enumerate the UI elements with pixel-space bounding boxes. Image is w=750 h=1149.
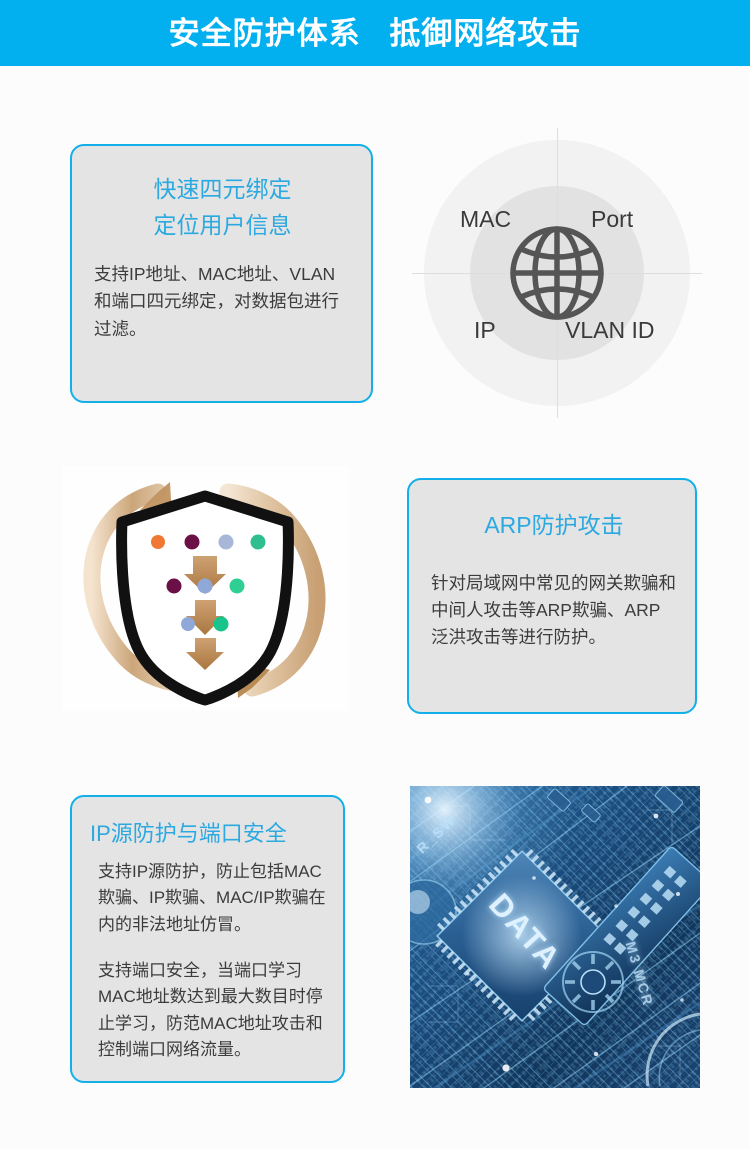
card-arp-title: ARP防护攻击 <box>431 508 677 544</box>
quadrant-label-ip: IP <box>474 317 496 344</box>
shield-icon <box>62 466 348 711</box>
circuit-board-graphic <box>410 786 700 1088</box>
quadrant-diagram: MAC Port IP VLAN ID <box>424 140 690 406</box>
card-quad-binding: 快速四元绑定 定位用户信息 支持IP地址、MAC地址、VLAN和端口四元绑定，对… <box>70 144 373 403</box>
card-ip-source-port-security: IP源防护与端口安全 支持IP源防护，防止包括MAC欺骗、IP欺骗、MAC/IP… <box>70 795 345 1083</box>
card-ip-source-title: IP源防护与端口安全 <box>90 817 329 851</box>
card-arp-body: 针对局域网中常见的网关欺骗和中间人攻击等ARP欺骗、ARP泛洪攻击等进行防护。 <box>431 570 677 651</box>
circuit-board-image: DATA R_SW M3 MCR <box>410 786 700 1088</box>
card-ip-source-body-1: 支持IP源防护，防止包括MAC欺骗、IP欺骗、MAC/IP欺骗在内的非法地址仿冒… <box>90 859 329 938</box>
globe-icon <box>507 223 607 323</box>
shield-illustration <box>62 466 348 711</box>
card-arp-protection: ARP防护攻击 针对局域网中常见的网关欺骗和中间人攻击等ARP欺骗、ARP泛洪攻… <box>407 478 697 714</box>
header-banner: 安全防护体系 抵御网络攻击 <box>0 0 750 66</box>
page-title: 安全防护体系 抵御网络攻击 <box>169 18 582 49</box>
card-ip-source-body-2: 支持端口安全，当端口学习MAC地址数达到最大数目时停止学习，防范MAC地址攻击和… <box>90 958 329 1063</box>
quadrant-label-vlan-id: VLAN ID <box>565 317 654 344</box>
card-quad-binding-body: 支持IP地址、MAC地址、VLAN和端口四元绑定，对数据包进行过滤。 <box>94 261 351 342</box>
quadrant-label-mac: MAC <box>460 206 511 233</box>
card-quad-binding-title: 快速四元绑定 定位用户信息 <box>94 172 351 243</box>
quadrant-label-port: Port <box>591 206 633 233</box>
